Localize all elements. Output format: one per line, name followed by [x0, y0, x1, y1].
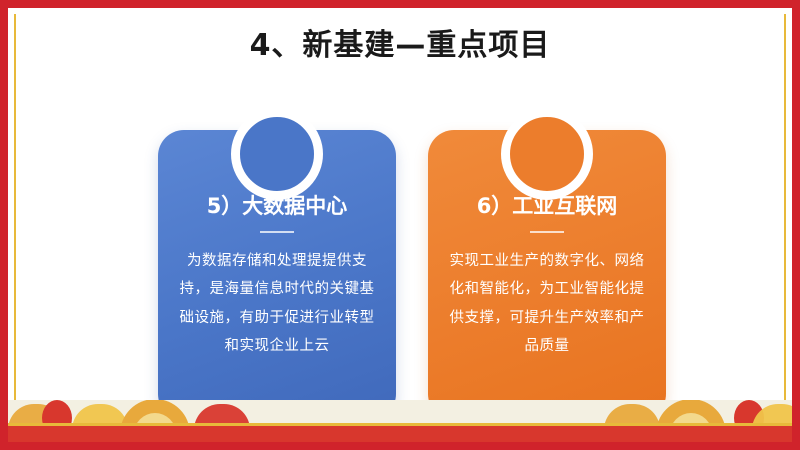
frame-border-bottom [0, 442, 800, 450]
card-industrial-internet[interactable]: 6）工业互联网 实现工业生产的数字化、网络化和智能化，为工业智能化提供支撑，可提… [428, 130, 666, 420]
card-body-text: 为数据存储和处理提提供支持，是海量信息时代的关键基础设施，有助于促进行业转型和实… [178, 247, 376, 360]
card-divider [530, 231, 564, 233]
band-red-strip [8, 426, 792, 442]
card-body-text: 实现工业生产的数字化、网络化和智能化，为工业智能化提供支撑，可提升生产效率和产品… [448, 247, 646, 360]
card-circle-badge-icon [501, 108, 593, 200]
page-title: 4、新基建—重点项目 [0, 20, 800, 64]
decorative-bottom-band [8, 400, 792, 442]
slide: 4、新基建—重点项目 5）大数据中心 为数据存储和处理提提供支持，是海量信息时代… [0, 0, 800, 450]
card-circle-badge-icon [231, 108, 323, 200]
card-divider [260, 231, 294, 233]
card-big-data-center[interactable]: 5）大数据中心 为数据存储和处理提提供支持，是海量信息时代的关键基础设施，有助于… [158, 130, 396, 420]
frame-border-top [0, 0, 800, 8]
card-group: 5）大数据中心 为数据存储和处理提提供支持，是海量信息时代的关键基础设施，有助于… [0, 104, 800, 414]
